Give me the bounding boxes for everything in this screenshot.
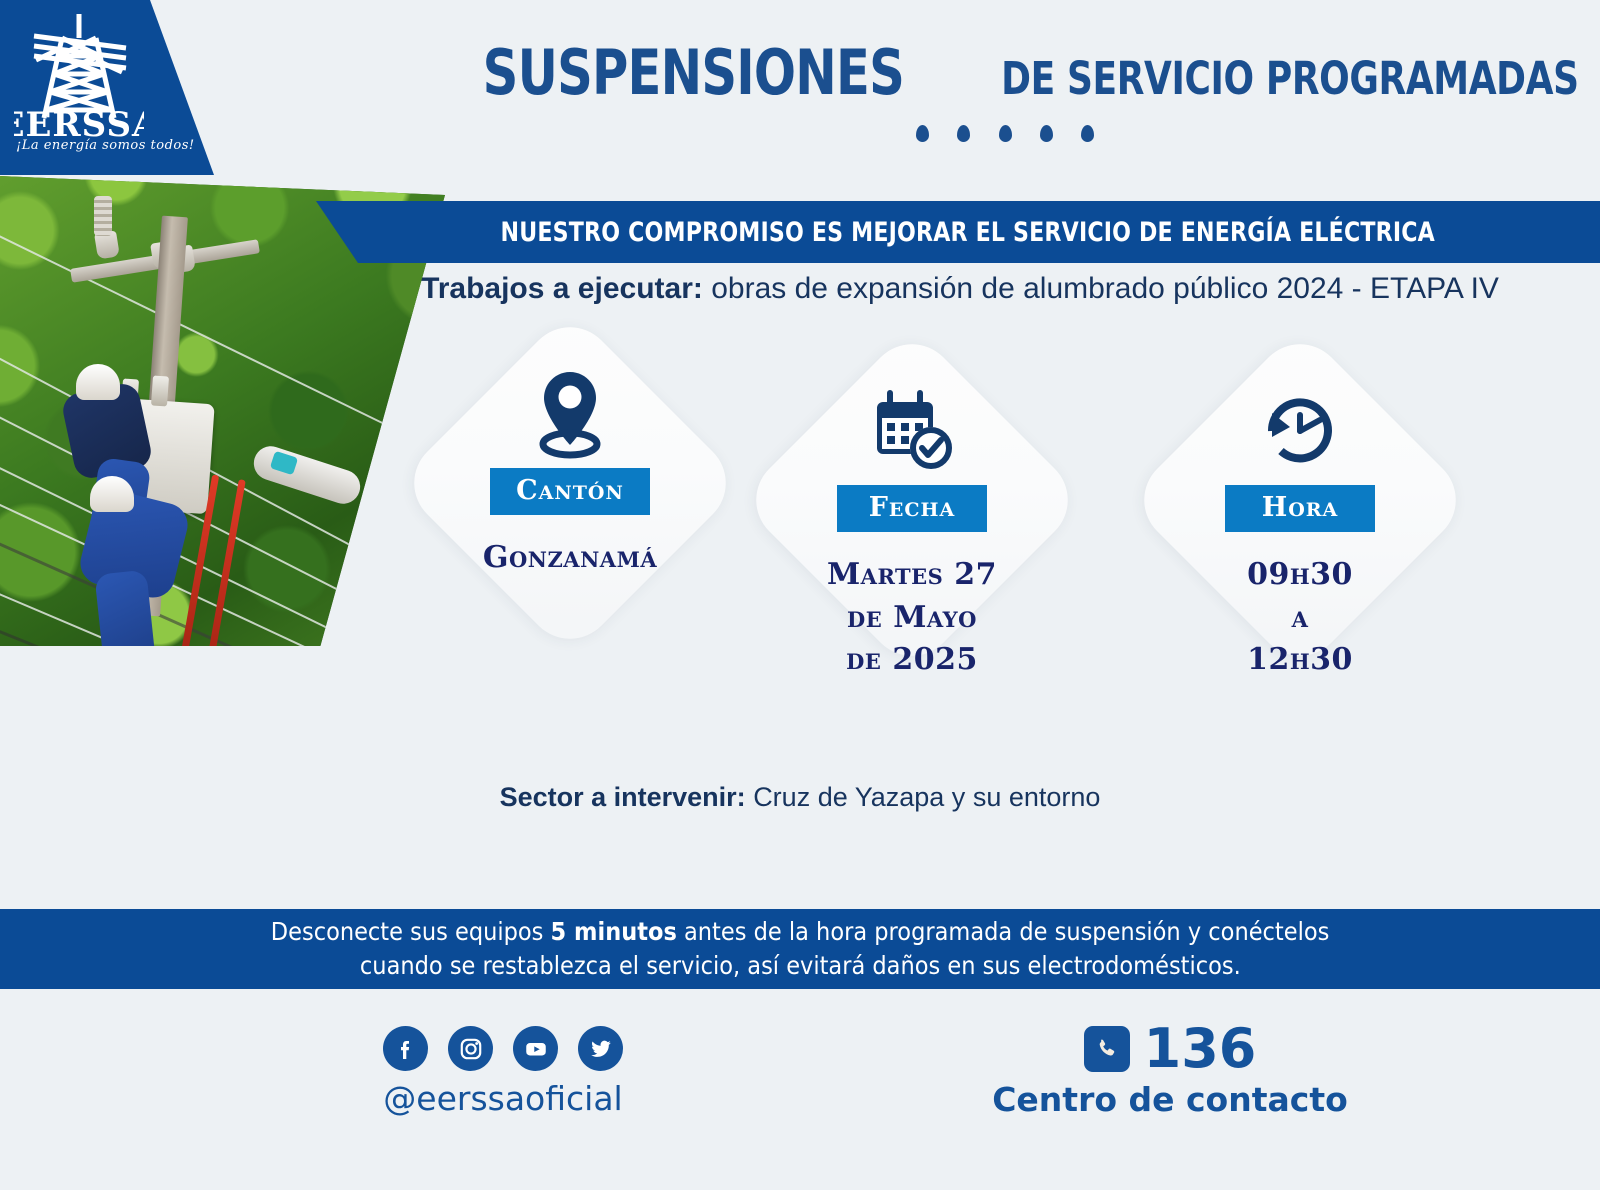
- social-handle[interactable]: @eerssaoficial: [378, 1079, 628, 1118]
- notice-banner: Desconecte sus equipos 5 minutos antes d…: [0, 909, 1600, 989]
- commitment-banner-text: NUESTRO COMPROMISO ES MEJORAR EL SERVICI…: [501, 217, 1435, 248]
- twitter-icon[interactable]: [578, 1026, 623, 1071]
- dot-decoration: [1081, 125, 1094, 142]
- card-value-hora: 09h30 a 12h30: [1155, 554, 1445, 682]
- works-line: Trabajos a ejecutar: obras de expansión …: [340, 272, 1580, 306]
- notice-line1-a: Desconecte sus equipos: [271, 917, 551, 946]
- brand-logo-panel: EERSSA ¡La energía somos todos!: [0, 0, 216, 175]
- facebook-icon[interactable]: [383, 1026, 428, 1071]
- phone-icon: [1084, 1026, 1130, 1072]
- card-badge-label: Hora: [1262, 492, 1339, 523]
- sector-value: Cruz de Yazapa y su entorno: [753, 782, 1100, 812]
- contact-number: 136: [1144, 1022, 1257, 1076]
- page-title: SUSPENSIONESDE SERVICIO PROGRAMADAS: [430, 36, 1580, 109]
- location-pin-icon: [425, 360, 715, 468]
- dot-decoration: [916, 125, 929, 142]
- poster: EERSSA ¡La energía somos todos! SUSPENSI…: [0, 0, 1600, 1190]
- notice-line1-b: antes de la hora programada de suspensió…: [677, 917, 1329, 946]
- card-badge-fecha: Fecha: [837, 485, 987, 532]
- contact-block: 136 Centro de contacto: [980, 1022, 1360, 1119]
- info-card-fecha: Fecha Martes 27 de Mayo de 2025: [767, 377, 1057, 667]
- dot-decoration: [957, 125, 970, 142]
- social-block: @eerssaoficial: [378, 1026, 628, 1118]
- card-badge-hora: Hora: [1225, 485, 1375, 532]
- notice-line-1: Desconecte sus equipos 5 minutos antes d…: [271, 915, 1330, 949]
- card-value-fecha: Martes 27 de Mayo de 2025: [767, 554, 1057, 682]
- dot-decoration: [1040, 125, 1053, 142]
- sector-line: Sector a intervenir: Cruz de Yazapa y su…: [0, 782, 1600, 813]
- card-badge-canton: Cantón: [490, 468, 650, 515]
- works-label: Trabajos a ejecutar:: [421, 272, 703, 305]
- contact-label: Centro de contacto: [980, 1080, 1360, 1119]
- card-badge-label: Fecha: [869, 492, 955, 523]
- sector-label: Sector a intervenir:: [500, 782, 746, 812]
- card-badge-label: Cantón: [516, 475, 624, 506]
- card-value-canton: Gonzanamá: [425, 537, 715, 580]
- brand-tagline: ¡La energía somos todos!: [16, 138, 166, 153]
- clock-rotate-icon: [1155, 377, 1445, 485]
- info-card-canton: Cantón Gonzanamá: [425, 360, 715, 650]
- page-title-bold: SUSPENSIONES: [483, 36, 904, 109]
- works-value: obras de expansión de alumbrado público …: [711, 272, 1499, 305]
- title-dots-decoration: [430, 125, 1580, 147]
- info-card-hora: Hora 09h30 a 12h30: [1155, 377, 1445, 667]
- notice-line-2: cuando se restablezca el servicio, así e…: [360, 949, 1241, 983]
- youtube-icon[interactable]: [513, 1026, 558, 1071]
- page-title-rest: DE SERVICIO PROGRAMADAS: [1001, 52, 1578, 105]
- notice-line1-bold: 5 minutos: [550, 917, 676, 946]
- transmission-tower-icon: EERSSA: [14, 8, 144, 143]
- commitment-banner: NUESTRO COMPROMISO ES MEJORAR EL SERVICI…: [316, 201, 1600, 263]
- instagram-icon[interactable]: [448, 1026, 493, 1071]
- dot-decoration: [999, 125, 1012, 142]
- calendar-check-icon: [767, 377, 1057, 485]
